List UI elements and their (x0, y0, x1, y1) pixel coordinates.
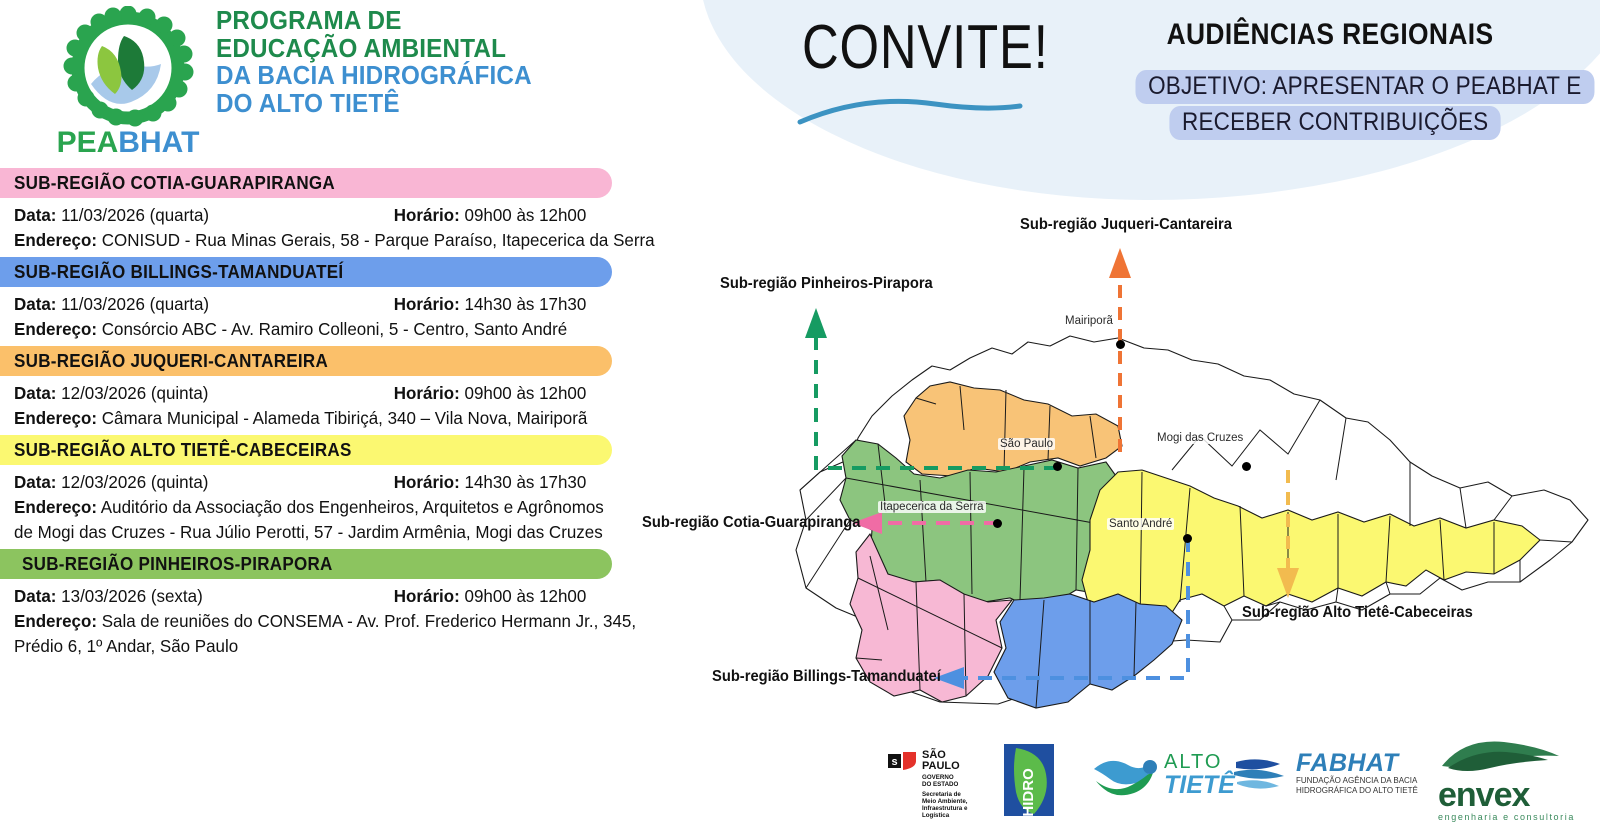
region-time: 14h30 às 17h30 (465, 472, 587, 492)
map-city-mogi-das-cruzes: Mogi das Cruzes (1155, 432, 1245, 444)
region-details: Data: 12/03/2026 (quinta) Horário: 09h00… (0, 376, 620, 435)
region-title: SUB-REGIÃO PINHEIROS-PIRAPORA (22, 553, 333, 575)
sp-line-6: Meio Ambiente, (922, 798, 968, 805)
region-time: 09h00 às 12h00 (465, 586, 587, 606)
logo-fabhat: FABHAT FUNDAÇÃO AGÊNCIA DA BACIA HIDROGR… (1228, 750, 1418, 796)
region-title: SUB-REGIÃO COTIA-GUARAPIRANGA (14, 172, 335, 194)
objective-line-2: RECEBER CONTRIBUIÇÕES (1169, 106, 1501, 140)
region-block-alto-tiete-cabeceiras: SUB-REGIÃO ALTO TIETÊ-CABECEIRAS Data: 1… (0, 435, 620, 549)
region-time: 09h00 às 12h00 (465, 205, 587, 225)
map-callout-alto-tiete-cabeceiras: Sub-região Alto Tietê-Cabeceiras (1242, 604, 1473, 622)
svg-text:s: s (891, 756, 897, 768)
label-horario: Horário: (394, 383, 460, 403)
region-block-juqueri-cantareira: SUB-REGIÃO JUQUERI-CANTAREIRA Data: 12/0… (0, 346, 620, 435)
map-city-santo-andre: Santo André (1107, 518, 1174, 530)
region-time: 14h30 às 17h30 (465, 294, 587, 314)
arrowhead-pinheiros-pirapora (805, 308, 827, 338)
region-block-cotia-guarapiranga: SUB-REGIÃO COTIA-GUARAPIRANGA Data: 11/0… (0, 168, 620, 257)
map-city-mairipora: Mairiporã (1063, 315, 1115, 327)
region-address-line-1: CONISUD - Rua Minas Gerais, 58 - Parque … (102, 230, 655, 250)
label-horario: Horário: (394, 294, 460, 314)
sub-regions-map: Sub-região Juqueri-Cantareira Sub-região… (620, 190, 1600, 710)
map-city-dot-sao-paulo (1053, 462, 1062, 471)
label-endereco: Endereço: (14, 408, 97, 428)
map-callout-cotia-guarapiranga: Sub-região Cotia-Guarapiranga (642, 514, 860, 532)
fabhat-line-1: FABHAT (1296, 751, 1418, 776)
region-address-line-2: Prédio 6, 1º Andar, São Paulo (14, 636, 238, 656)
sp-line-5: Secretaria de (922, 791, 968, 798)
label-data: Data: (14, 472, 56, 492)
region-address-line-1: Consórcio ABC - Av. Ramiro Colleoni, 5 -… (102, 319, 567, 339)
sp-line-4: DO ESTADO (922, 781, 968, 788)
brand-line-2: EDUCAÇÃO AMBIENTAL (216, 36, 596, 64)
brand-line-3: DA BACIA HIDROGRÁFICA (216, 63, 596, 91)
region-title: SUB-REGIÃO JUQUERI-CANTAREIRA (14, 350, 328, 372)
map-callout-billings-tamanduatei: Sub-região Billings-Tamanduateí (712, 668, 941, 686)
logo-envex: envex engenharia e consultoria (1438, 740, 1575, 822)
audiencias-title: AUDIÊNCIAS REGIONAIS (1136, 18, 1523, 52)
peabhat-logo: PEABHAT (58, 6, 206, 158)
envex-leaf-icon (1438, 740, 1563, 774)
map-callout-juqueri-cantareira: Sub-região Juqueri-Cantareira (1020, 216, 1232, 234)
swoosh-decoration (795, 92, 1025, 128)
label-endereco: Endereço: (14, 319, 97, 339)
label-horario: Horário: (394, 205, 460, 225)
region-block-billings-tamanduatei: SUB-REGIÃO BILLINGS-TAMANDUATEÍ Data: 11… (0, 257, 620, 346)
sp-mark-icon: s (888, 750, 918, 772)
region-title: SUB-REGIÃO BILLINGS-TAMANDUATEÍ (14, 261, 343, 283)
region-address-line-1: Câmara Municipal - Alameda Tibiriçá, 340… (102, 408, 588, 428)
poster-canvas: PEABHAT PROGRAMA DE EDUCAÇÃO AMBIENTAL D… (0, 0, 1600, 838)
svg-text:PEABHAT: PEABHAT (58, 126, 199, 158)
label-data: Data: (14, 383, 56, 403)
sp-line-2: PAULO (922, 761, 968, 772)
region-title-bar: SUB-REGIÃO COTIA-GUARAPIRANGA (0, 168, 612, 198)
map-city-dot-mairipora (1116, 340, 1125, 349)
region-title-bar: SUB-REGIÃO BILLINGS-TAMANDUATEÍ (0, 257, 612, 287)
left-info-column: PEABHAT PROGRAMA DE EDUCAÇÃO AMBIENTAL D… (0, 0, 620, 838)
label-endereco: Endereço: (14, 230, 97, 250)
map-city-dot-itapecerica-da-serra (993, 519, 1002, 528)
region-title-bar: SUB-REGIÃO PINHEIROS-PIRAPORA (0, 549, 612, 579)
envex-wordmark: envex (1438, 779, 1575, 811)
region-details: Data: 11/03/2026 (quarta) Horário: 09h00… (0, 198, 620, 257)
region-date: 11/03/2026 (quarta) (61, 294, 209, 314)
fehidro-wordmark: FEHIDRO (1020, 768, 1037, 820)
region-date: 12/03/2026 (quinta) (61, 383, 208, 403)
region-address-line-1: Auditório da Associação dos Engenheiros,… (101, 497, 604, 517)
region-date: 13/03/2026 (sexta) (61, 586, 203, 606)
invite-heading: CONVITE! (802, 12, 1049, 83)
alto-tiete-line-2: TIETÊ (1164, 772, 1235, 798)
region-details: Data: 13/03/2026 (sexta) Horário: 09h00 … (0, 579, 620, 663)
brand-line-4: DO ALTO TIETÊ (216, 91, 596, 119)
label-horario: Horário: (394, 472, 460, 492)
map-city-itapecerica-da-serra: Itapecerica da Serra (878, 501, 986, 513)
alto-tiete-line-1: ALTO (1164, 752, 1235, 772)
envex-tagline: engenharia e consultoria (1438, 812, 1575, 822)
region-time: 09h00 às 12h00 (465, 383, 587, 403)
region-address-line-1: Sala de reuniões do CONSEMA - Av. Prof. … (102, 611, 636, 631)
objective-line-1: OBJETIVO: APRESENTAR O PEABHAT E (1135, 70, 1594, 104)
footer-logos: s SÃO PAULO GOVERNO DO ESTADO Secretaria… (860, 718, 1600, 828)
sp-line-7: Infraestrutura e (922, 805, 968, 812)
brand-title-block: PROGRAMA DE EDUCAÇÃO AMBIENTAL DA BACIA … (216, 8, 616, 118)
objective-banner: OBJETIVO: APRESENTAR O PEABHAT E RECEBER… (1110, 70, 1560, 140)
region-details: Data: 12/03/2026 (quinta) Horário: 14h30… (0, 465, 620, 549)
sp-line-8: Logística (922, 812, 968, 819)
region-title-bar: SUB-REGIÃO JUQUERI-CANTAREIRA (0, 346, 612, 376)
logo-word-pea: PEA (58, 126, 118, 158)
label-horario: Horário: (394, 586, 460, 606)
map-callout-pinheiros-pirapora: Sub-região Pinheiros-Pirapora (720, 275, 933, 293)
sp-line-3: GOVERNO (922, 774, 968, 781)
fabhat-line-3: HIDROGRÁFICA DO ALTO TIETÊ (1296, 786, 1418, 796)
logo-alto-tiete: ALTO TIETÊ (1092, 752, 1235, 798)
logo-word-bhat: BHAT (118, 126, 199, 158)
label-data: Data: (14, 294, 56, 314)
fabhat-line-2: FUNDAÇÃO AGÊNCIA DA BACIA (1296, 776, 1418, 786)
logo-fehidro: FEHIDRO (1000, 740, 1058, 825)
map-city-dot-mogi-das-cruzes (1242, 462, 1251, 471)
fabhat-mark-icon (1228, 750, 1290, 796)
alto-tiete-mark-icon (1092, 753, 1158, 797)
region-title: SUB-REGIÃO ALTO TIETÊ-CABECEIRAS (14, 439, 352, 461)
fehidro-mark-icon: FEHIDRO (1000, 740, 1058, 820)
region-address-line-2: de Mogi das Cruzes - Rua Júlio Perotti, … (14, 522, 603, 542)
region-date: 11/03/2026 (quarta) (61, 205, 209, 225)
label-endereco: Endereço: (14, 611, 97, 631)
region-details: Data: 11/03/2026 (quarta) Horário: 14h30… (0, 287, 620, 346)
sp-line-1: SÃO (922, 750, 968, 761)
logo-sao-paulo-governo: s SÃO PAULO GOVERNO DO ESTADO Secretaria… (888, 750, 968, 819)
map-city-dot-santo-andre (1183, 534, 1192, 543)
map-graphic (620, 190, 1600, 710)
brand-header: PEABHAT PROGRAMA DE EDUCAÇÃO AMBIENTAL D… (0, 0, 620, 168)
arrowhead-juqueri-cantareira (1109, 248, 1131, 278)
region-title-bar: SUB-REGIÃO ALTO TIETÊ-CABECEIRAS (0, 435, 612, 465)
map-city-sao-paulo: São Paulo (998, 438, 1055, 450)
label-data: Data: (14, 205, 56, 225)
brand-line-1: PROGRAMA DE (216, 8, 596, 36)
label-endereco: Endereço: (14, 497, 97, 517)
map-region-billings-tamanduatei (994, 594, 1182, 708)
region-date: 12/03/2026 (quinta) (61, 472, 208, 492)
region-block-pinheiros-pirapora: SUB-REGIÃO PINHEIROS-PIRAPORA Data: 13/0… (0, 549, 620, 663)
label-data: Data: (14, 586, 56, 606)
